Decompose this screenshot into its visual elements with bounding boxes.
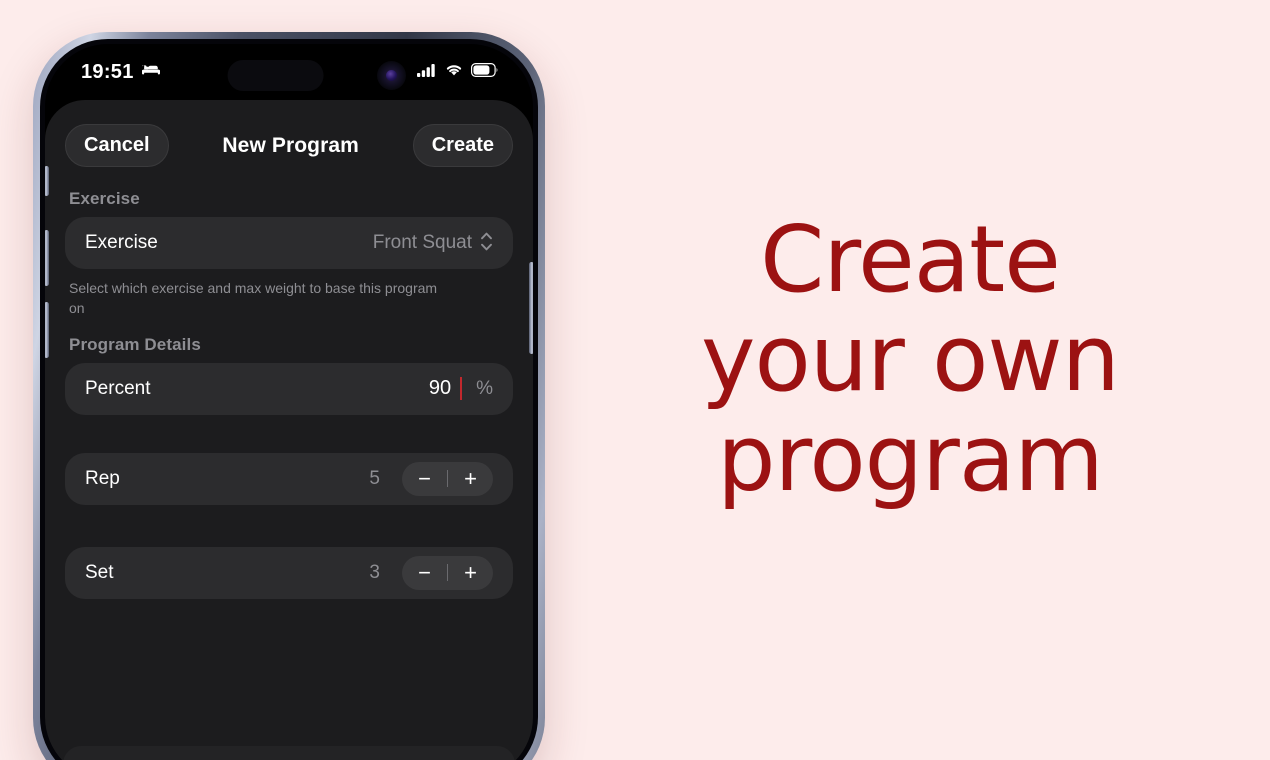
percent-row-label: Percent (85, 378, 150, 400)
text-cursor (460, 377, 462, 400)
promo-line-2: your own (600, 309, 1220, 408)
page-title: New Program (222, 134, 358, 158)
set-increment-button[interactable]: + (448, 556, 493, 590)
bed-icon (141, 61, 161, 84)
set-stepper[interactable]: − + (402, 556, 493, 590)
cancel-button[interactable]: Cancel (65, 124, 169, 167)
exercise-footnote: Select which exercise and max weight to … (45, 269, 465, 319)
set-decrement-button[interactable]: − (402, 556, 447, 590)
set-row-label: Set (85, 562, 114, 584)
percent-value-group[interactable]: 90 % (429, 377, 493, 400)
section-header-program-details: Program Details (45, 319, 533, 363)
status-bar-time: 19:51 (81, 61, 134, 84)
percent-unit-label: % (476, 378, 493, 400)
phone-bezel: 19:51 (40, 39, 538, 760)
signal-bars-icon (417, 63, 437, 82)
wifi-icon (444, 62, 464, 82)
phone-device: 19:51 (33, 32, 545, 760)
set-value: 3 (369, 562, 380, 584)
phone-screen: 19:51 (45, 44, 533, 760)
front-camera-icon (377, 61, 406, 90)
battery-icon (471, 63, 499, 82)
set-value-group: 3 − + (369, 556, 493, 590)
section-header-exercise: Exercise (45, 173, 533, 217)
rep-stepper[interactable]: − + (402, 462, 493, 496)
chevron-updown-icon (480, 232, 493, 254)
rep-row: Rep 5 − + (65, 453, 513, 505)
rep-value: 5 (369, 468, 380, 490)
rep-row-label: Rep (85, 468, 120, 490)
navigation-bar: Cancel New Program Create (45, 100, 533, 173)
exercise-selected-value: Front Squat (373, 232, 472, 254)
onscreen-keyboard[interactable] (63, 746, 515, 760)
rep-value-group: 5 − + (369, 462, 493, 496)
percent-row[interactable]: Percent 90 % (65, 363, 513, 415)
new-program-sheet: Cancel New Program Create Exercise Exerc… (45, 100, 533, 760)
power-button[interactable] (529, 262, 533, 354)
rep-increment-button[interactable]: + (448, 462, 493, 496)
status-bar-right (417, 62, 499, 82)
row-spacer (45, 505, 533, 547)
silent-switch-button[interactable] (45, 166, 49, 196)
percent-input[interactable]: 90 (429, 377, 451, 400)
volume-up-button[interactable] (45, 230, 49, 286)
promo-line-1: Create (600, 210, 1220, 309)
promo-headline: Create your own program (600, 210, 1220, 508)
status-bar-left: 19:51 (81, 61, 161, 84)
exercise-row-label: Exercise (85, 232, 158, 254)
set-row: Set 3 − + (65, 547, 513, 599)
exercise-row-value-group: Front Squat (373, 232, 493, 254)
exercise-picker-row[interactable]: Exercise Front Squat (65, 217, 513, 269)
volume-down-button[interactable] (45, 302, 49, 358)
promo-line-3: program (600, 409, 1220, 508)
dynamic-island (228, 60, 324, 91)
rep-decrement-button[interactable]: − (402, 462, 447, 496)
row-spacer (45, 415, 533, 453)
create-button[interactable]: Create (413, 124, 513, 167)
